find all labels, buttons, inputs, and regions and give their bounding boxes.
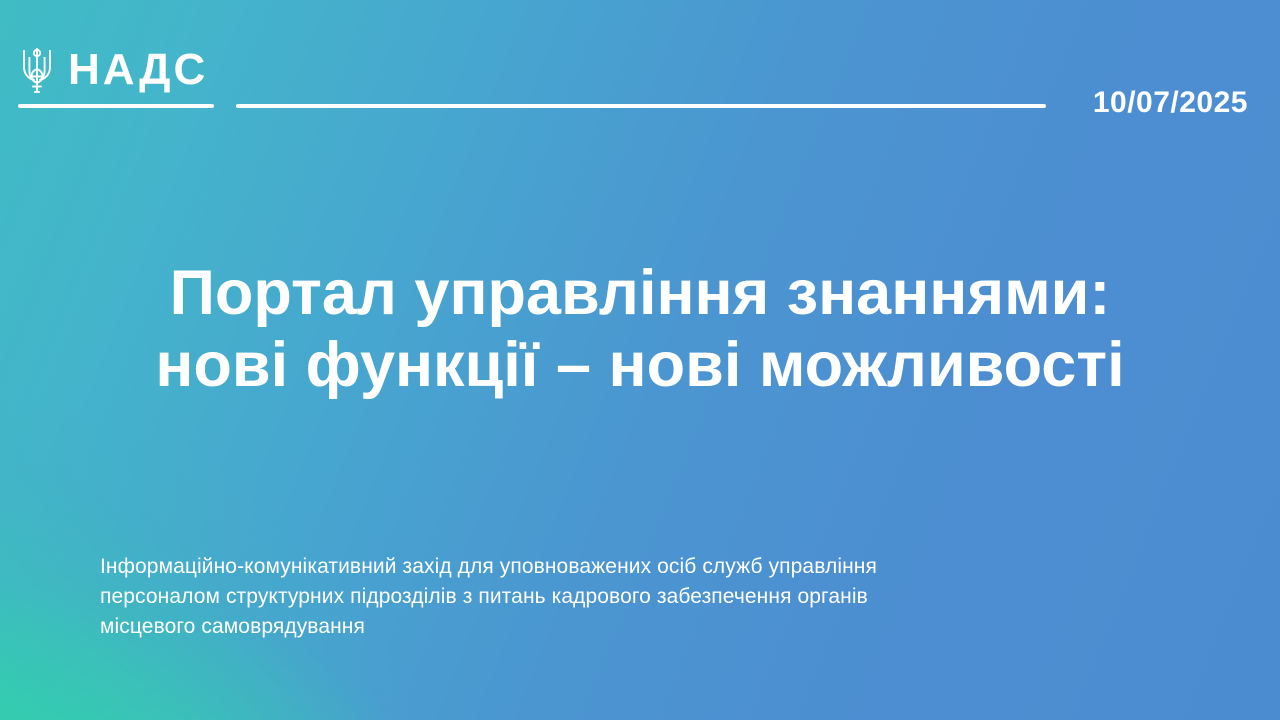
ukraine-trident-icon xyxy=(18,45,56,95)
brand-wordmark: НАДС xyxy=(68,48,208,92)
slide-date: 10/07/2025 xyxy=(1093,88,1248,118)
subtitle-line-1: Інформаційно-комунікативний захід для уп… xyxy=(100,552,1190,582)
slide-subtitle: Інформаційно-комунікативний захід для уп… xyxy=(100,552,1190,641)
title-line-2: нові функції – нові можливості xyxy=(0,330,1280,402)
title-line-1: Портал управління знаннями: xyxy=(0,258,1280,330)
header-divider-rule xyxy=(236,104,1046,108)
slide-title: Портал управління знаннями: нові функції… xyxy=(0,258,1280,402)
brand-lockup: НАДС xyxy=(18,45,208,95)
subtitle-line-2: персоналом структурних підрозділів з пит… xyxy=(100,582,1190,612)
subtitle-line-3: місцевого самоврядування xyxy=(100,612,1190,642)
title-slide: НАДС 10/07/2025 Портал управління знання… xyxy=(0,0,1280,720)
slide-header: НАДС 10/07/2025 xyxy=(0,0,1280,150)
brand-underline xyxy=(18,104,214,108)
